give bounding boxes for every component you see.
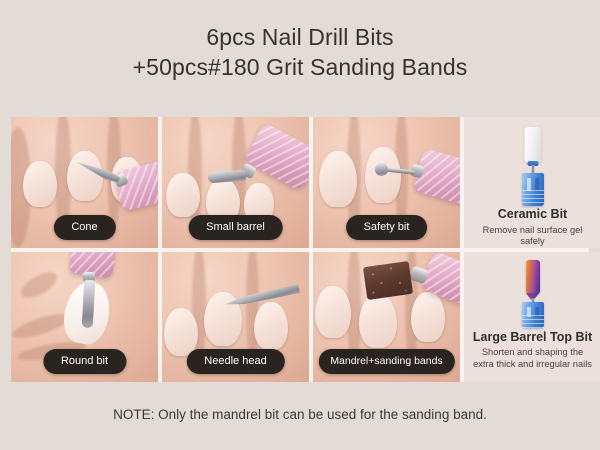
title-line-2: +50pcs#180 Grit Sanding Bands xyxy=(0,52,600,82)
info-card-large-barrel-top-bit: Large Barrel Top Bit Shorten and shaping… xyxy=(464,252,600,383)
infographic-page: 6pcs Nail Drill Bits +50pcs#180 Grit San… xyxy=(0,0,600,450)
photo-label-needle-head: Needle head xyxy=(186,349,284,374)
info-card-desc-ceramic: Remove nail surface gel safely xyxy=(464,225,600,248)
rainbow-barrel-icon xyxy=(526,260,540,294)
info-card-title-ceramic: Ceramic Bit xyxy=(498,207,567,222)
photo-cell-round-bit: Round bit xyxy=(11,252,158,383)
photo-label-mandrel-sanding-bands: Mandrel+sanding bands xyxy=(318,349,454,374)
photo-cell-cone: Cone xyxy=(11,117,158,248)
info-card-ceramic-bit: Ceramic Bit Remove nail surface gel safe… xyxy=(464,117,600,248)
title-line-1: 6pcs Nail Drill Bits xyxy=(0,22,600,52)
ceramic-bit-illustration xyxy=(464,123,600,205)
info-card-desc-large-barrel: Shorten and shaping the extra thick and … xyxy=(464,347,600,370)
ceramic-head-icon xyxy=(524,127,541,163)
blue-shank-icon xyxy=(522,302,544,328)
large-barrel-bit-illustration xyxy=(464,258,600,328)
photo-cell-safety-bit: Safety bit xyxy=(313,117,460,248)
safety-bit-tip xyxy=(375,163,388,176)
product-grid: Cone Small barrel xyxy=(11,117,589,382)
sanding-band xyxy=(363,260,413,299)
info-card-title-large-barrel: Large Barrel Top Bit xyxy=(473,330,592,345)
photo-label-safety-bit: Safety bit xyxy=(346,215,428,240)
page-title: 6pcs Nail Drill Bits +50pcs#180 Grit San… xyxy=(0,22,600,82)
photo-cell-small-barrel: Small barrel xyxy=(162,117,309,248)
blue-shank-icon xyxy=(522,173,544,206)
photo-label-cone: Cone xyxy=(53,215,115,240)
footer-note: NOTE: Only the mandrel bit can be used f… xyxy=(0,406,600,424)
photo-cell-mandrel-sanding-bands: Mandrel+sanding bands xyxy=(313,252,460,383)
photo-label-round-bit: Round bit xyxy=(43,349,126,374)
photo-cell-needle-head: Needle head xyxy=(162,252,309,383)
photo-label-small-barrel: Small barrel xyxy=(188,215,283,240)
